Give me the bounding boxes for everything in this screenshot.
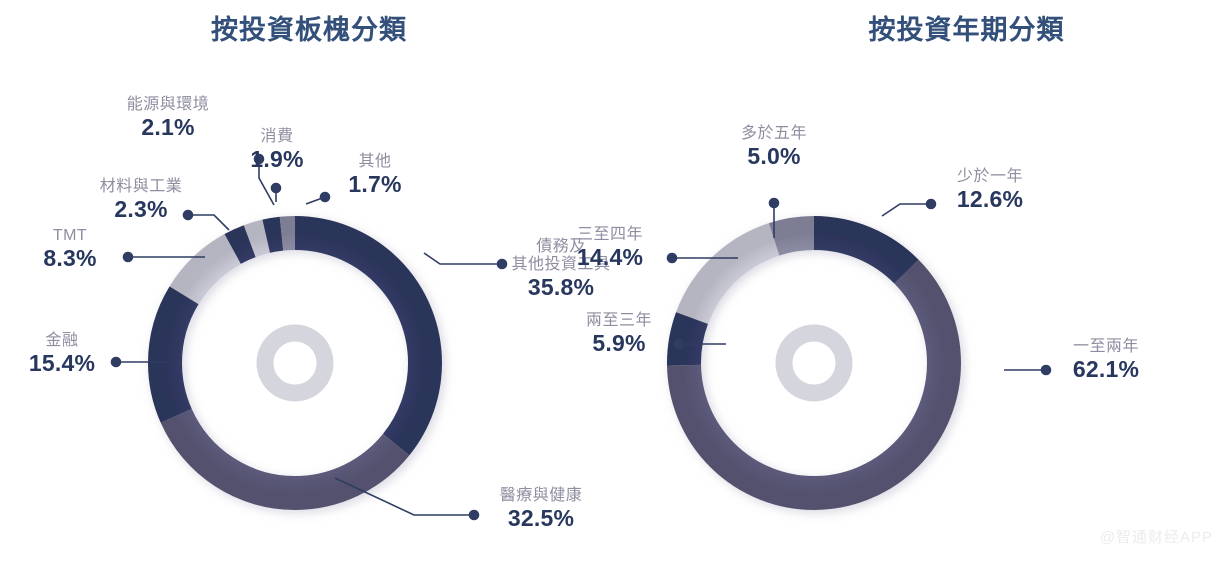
label-value: 14.4% bbox=[558, 245, 662, 271]
label-name: 醫療與健康 bbox=[486, 487, 596, 505]
label-one-to-two-years: 一至兩年 62.1% bbox=[1054, 338, 1158, 383]
label-name: 少於一年 bbox=[938, 168, 1042, 186]
ring-shading bbox=[165, 233, 425, 493]
label-materials-industry: 材料與工業 2.3% bbox=[86, 178, 196, 223]
chart-panel-sector: 按投資板槐分類 bbox=[0, 0, 630, 565]
label-value: 5.9% bbox=[567, 331, 671, 357]
label-name: 金融 bbox=[14, 332, 110, 350]
label-energy-environment: 能源與環境 2.1% bbox=[88, 96, 248, 141]
donut-ring-sector bbox=[165, 233, 425, 493]
label-value: 12.6% bbox=[938, 187, 1042, 213]
chart-title-tenor: 按投資年期分類 bbox=[668, 8, 1227, 47]
label-value: 8.3% bbox=[22, 246, 118, 272]
ring-shading bbox=[684, 233, 944, 493]
label-other: 其他 1.7% bbox=[334, 153, 416, 198]
donut-chart-sector bbox=[135, 203, 455, 523]
label-value: 1.9% bbox=[236, 147, 318, 173]
label-value: 15.4% bbox=[14, 351, 110, 377]
chart-panel-tenor: 按投資年期分類 bbox=[630, 0, 1227, 565]
label-name: 消費 bbox=[236, 128, 318, 146]
label-name: 能源與環境 bbox=[88, 96, 248, 114]
label-value: 1.7% bbox=[334, 172, 416, 198]
donut-hub-sector bbox=[265, 333, 325, 393]
label-finance: 金融 15.4% bbox=[14, 332, 110, 377]
label-under-one-year: 少於一年 12.6% bbox=[938, 168, 1042, 213]
label-name: 材料與工業 bbox=[86, 178, 196, 196]
label-value: 2.3% bbox=[86, 197, 196, 223]
donut-ring-tenor bbox=[684, 233, 944, 493]
label-value: 62.1% bbox=[1054, 357, 1158, 383]
label-name: 多於五年 bbox=[726, 125, 822, 143]
label-name: 一至兩年 bbox=[1054, 338, 1158, 356]
label-healthcare: 醫療與健康 32.5% bbox=[486, 487, 596, 532]
label-name: 三至四年 bbox=[558, 226, 662, 244]
label-two-to-three-years: 兩至三年 5.9% bbox=[567, 312, 671, 357]
label-consumer: 消費 1.9% bbox=[236, 128, 318, 173]
donut-hub-tenor bbox=[784, 333, 844, 393]
label-tmt: TMT 8.3% bbox=[22, 227, 118, 272]
watermark: @智通财经APP bbox=[1100, 526, 1213, 547]
chart-title-sector: 按投資板槐分類 bbox=[0, 8, 624, 47]
label-value: 5.0% bbox=[726, 144, 822, 170]
label-value: 2.1% bbox=[88, 115, 248, 141]
label-name: 兩至三年 bbox=[567, 312, 671, 330]
label-name: 其他 bbox=[334, 153, 416, 171]
charts-container: 按投資板槐分類 bbox=[0, 0, 1227, 565]
label-over-five-years: 多於五年 5.0% bbox=[726, 125, 822, 170]
label-name: TMT bbox=[22, 227, 118, 245]
label-three-to-four-years: 三至四年 14.4% bbox=[558, 226, 662, 271]
donut-chart-tenor bbox=[654, 203, 974, 523]
label-value: 32.5% bbox=[486, 506, 596, 532]
label-value: 35.8% bbox=[500, 275, 622, 301]
